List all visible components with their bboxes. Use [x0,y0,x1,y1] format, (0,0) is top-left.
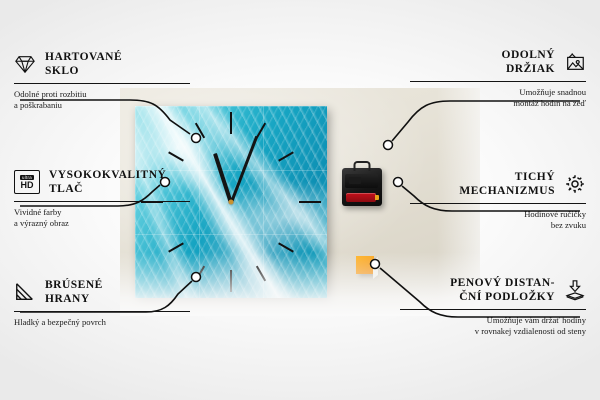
feature-title-line1: BRÚSENÉ [45,278,103,292]
feature-print-quality: ultra HD VYSOKOKVALITNÝ TLAČ Vividné far… [14,168,190,229]
feature-title-line2: DRŽIAK [502,62,555,76]
feature-desc-line1: Odolné proti rozbitiu [14,89,190,100]
gear-icon [564,173,586,195]
feature-header: TICHÝ MECHANIZMUS [410,170,586,198]
feature-desc-line1: Hodinové ručičky [410,209,586,220]
mechanism-body [345,174,378,188]
feature-title-line1: VYSOKOKVALITNÝ [49,168,166,182]
feature-title-line2: MECHANIZMUS [459,184,555,198]
feature-title-line1: TICHÝ [459,170,555,184]
clock-center-hub [229,200,234,205]
feature-desc-line2: a poškrabaniu [14,100,190,111]
feature-title: PENOVÝ DISTAN- ČNÍ PODLOŽKY [450,276,555,304]
mechanism-hanger [354,161,371,171]
diamond-icon [14,53,36,75]
feature-title: VYSOKOKVALITNÝ TLAČ [49,168,166,196]
feature-desc-line1: Vividné farby [14,207,190,218]
feature-description: Umožňuje snadnou montáž hodin na zeď [410,87,586,109]
clock-tick [230,270,232,292]
ultra-hd-icon: ultra HD [14,170,40,194]
feature-description: Hodinové ručičky bez zvuku [410,209,586,231]
feature-title-line1: HARTOVANÉ [45,50,122,64]
feature-title-line1: ODOLNÝ [502,48,555,62]
feature-durable-holder: ODOLNÝ DRŽIAK Umožňuje snadnou montáž ho… [410,48,586,109]
feature-divider [14,83,190,84]
feature-title: TICHÝ MECHANIZMUS [459,170,555,198]
clock-tick [230,112,232,134]
clock-tick [299,201,321,203]
infographic-canvas: HARTOVANÉ SKLO Odolné proti rozbitiu a p… [0,0,600,400]
ultra-hd-icon-bottom: HD [21,180,34,190]
picture-frame-icon [564,51,586,73]
feature-header: ODOLNÝ DRŽIAK [410,48,586,76]
feature-description: Umožňuje vám držať hodiny v rovnakej vzd… [400,315,586,337]
feature-desc-line2: a výrazný obraz [14,218,190,229]
feature-divider [14,201,190,202]
feature-desc-line1: Hladký a bezpečný povrch [14,317,190,328]
feature-tempered-glass: HARTOVANÉ SKLO Odolné proti rozbitiu a p… [14,50,190,111]
feature-foam-spacers: PENOVÝ DISTAN- ČNÍ PODLOŽKY Umožňuje vám… [400,276,586,337]
feature-divider [410,203,586,204]
feature-divider [410,81,586,82]
feature-title-line2: TLAČ [49,182,166,196]
feature-title-line2: SKLO [45,64,122,78]
feature-header: BRÚSENÉ HRANY [14,278,190,306]
feature-description: Vividné farby a výrazný obraz [14,207,190,229]
feature-divider [400,309,586,310]
feature-desc-line1: Umožňuje snadnou [410,87,586,98]
feature-ground-edges: BRÚSENÉ HRANY Hladký a bezpečný povrch [14,278,190,328]
feature-divider [14,311,190,312]
feature-title-line2: HRANY [45,292,103,306]
ground-edges-icon [14,281,36,303]
feature-description: Hladký a bezpečný povrch [14,317,190,328]
foam-spacer-icon [564,279,586,301]
clock-mechanism [342,168,382,206]
battery [346,193,376,202]
feature-silent-mechanism: TICHÝ MECHANIZMUS Hodinové ručičky bez z… [410,170,586,231]
feature-desc-line1: Umožňuje vám držať hodiny [400,315,586,326]
feature-desc-line2: montáž hodin na zeď [410,98,586,109]
feature-desc-line2: v rovnakej vzdialenosti od steny [400,326,586,337]
feature-title-line1: PENOVÝ DISTAN- [450,276,555,290]
feature-header: ultra HD VYSOKOKVALITNÝ TLAČ [14,168,190,196]
feature-header: HARTOVANÉ SKLO [14,50,190,78]
feature-description: Odolné proti rozbitiu a poškrabaniu [14,89,190,111]
feature-title: ODOLNÝ DRŽIAK [502,48,555,76]
feature-title-line2: ČNÍ PODLOŽKY [450,290,555,304]
foam-spacer-pad [356,256,374,274]
feature-title: BRÚSENÉ HRANY [45,278,103,306]
feature-header: PENOVÝ DISTAN- ČNÍ PODLOŽKY [400,276,586,304]
feature-title: HARTOVANÉ SKLO [45,50,122,78]
feature-desc-line2: bez zvuku [410,220,586,231]
